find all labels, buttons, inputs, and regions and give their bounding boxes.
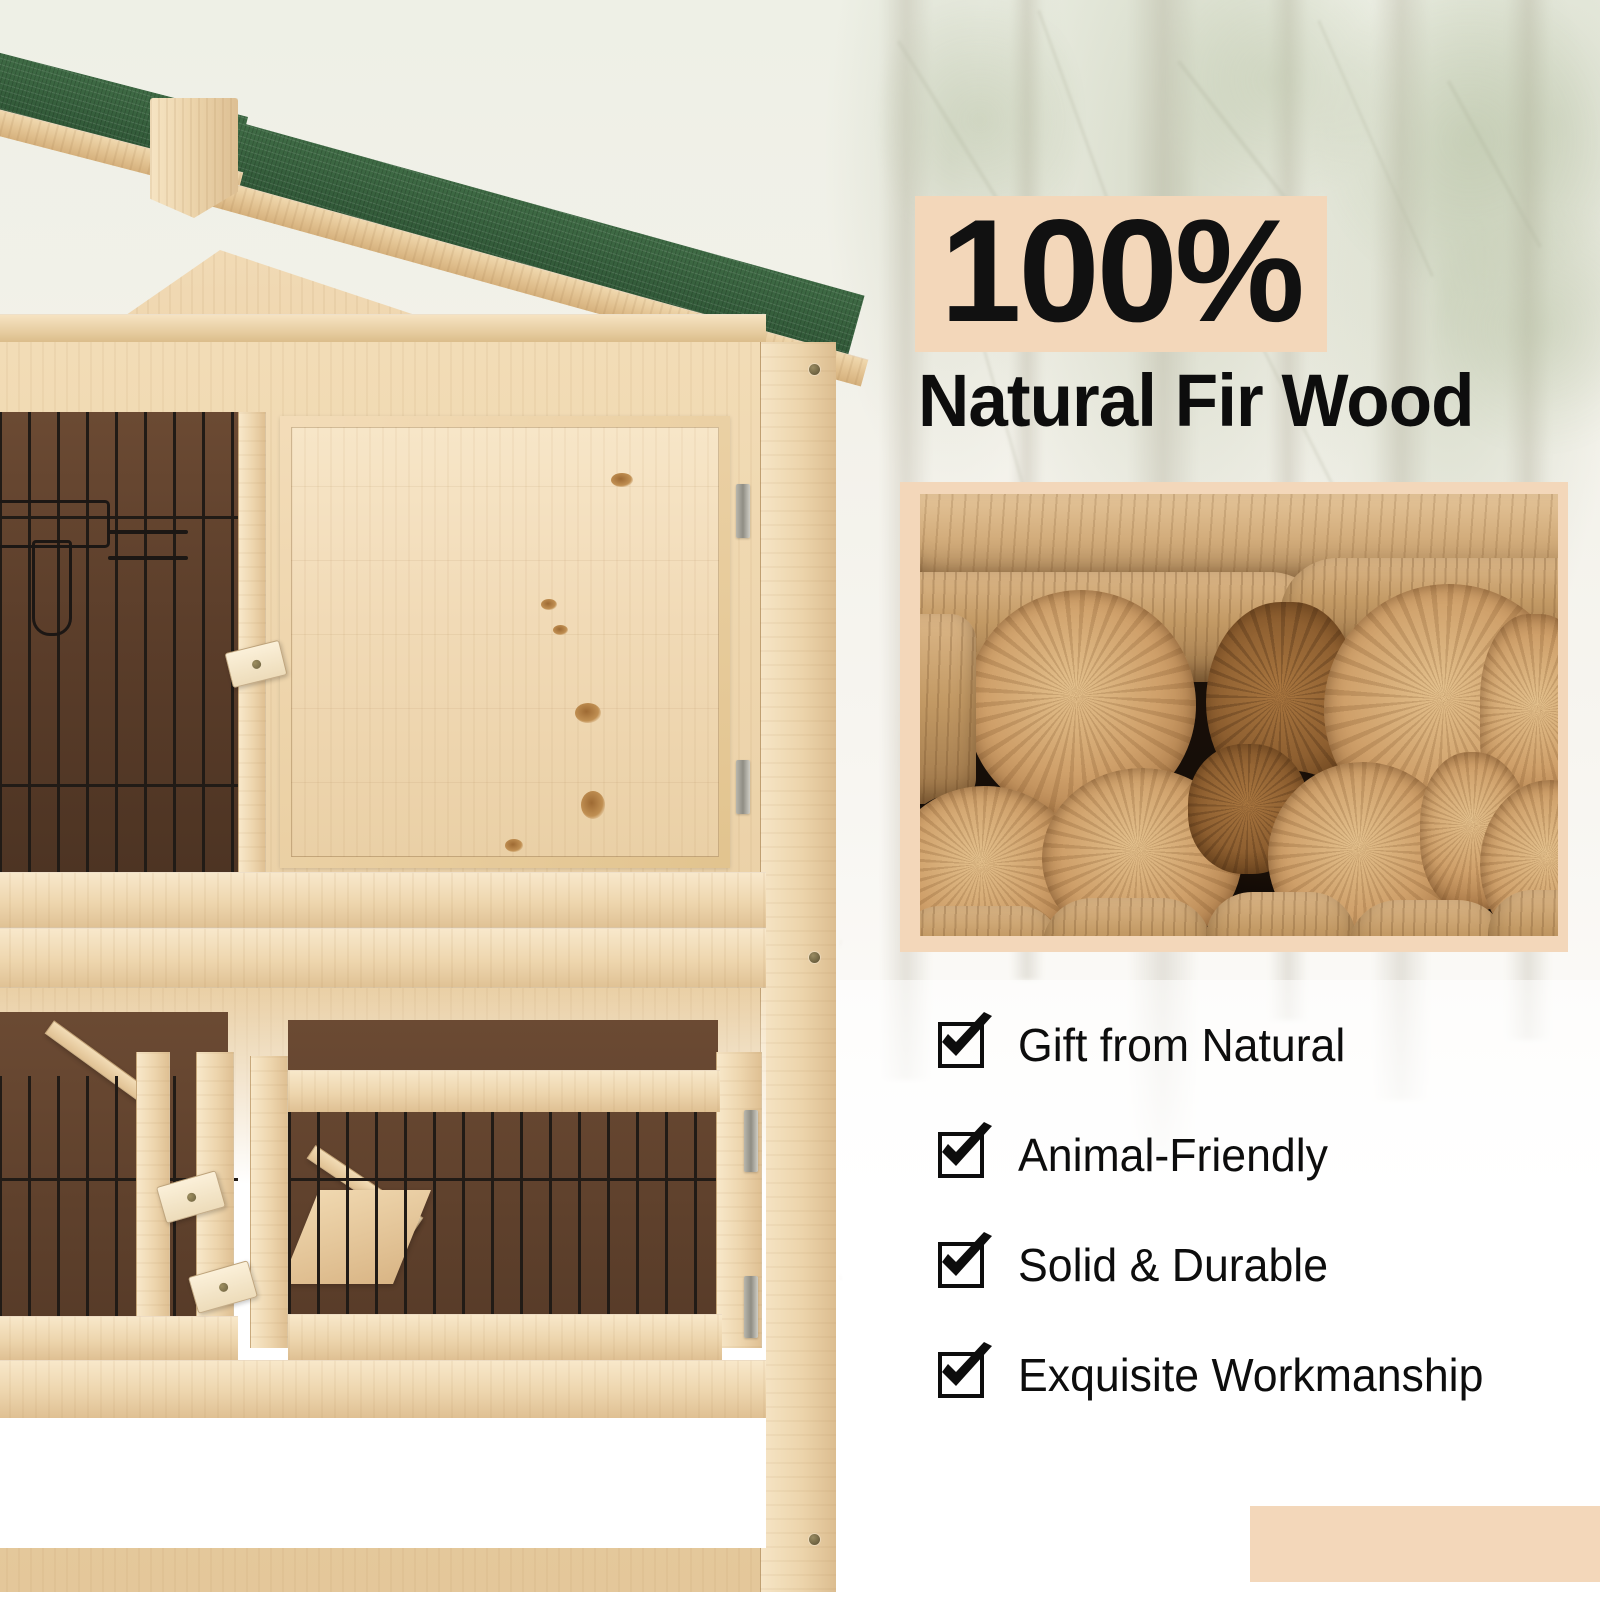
latch-arm [108, 556, 188, 560]
level-divider-rail-upper [0, 872, 766, 928]
bottom-accent-bar [1250, 1506, 1600, 1582]
checklist-item-label: Animal-Friendly [1018, 1130, 1328, 1180]
checklist-item: Solid & Durable [938, 1210, 1578, 1320]
upper-solid-wood-door[interactable] [280, 416, 730, 868]
fir-logs-photo [920, 494, 1558, 936]
lower-wire-mesh-right[interactable] [288, 1076, 720, 1332]
lower-stile-c [250, 1056, 288, 1348]
checklist-item: Animal-Friendly [938, 1100, 1578, 1210]
wood-knot [581, 791, 605, 819]
screw-icon [809, 952, 820, 963]
checklist-item: Gift from Natural [938, 990, 1578, 1100]
gable-trim [0, 314, 766, 344]
door-hinge-icon [736, 484, 750, 538]
promo-image-canvas: 100% Natural Fir Wood [0, 0, 1600, 1600]
headline-text: Natural Fir Wood [918, 360, 1561, 442]
latch-loop [32, 540, 72, 636]
upper-wire-mesh-panel [0, 412, 238, 872]
level-divider-rail-lower [0, 928, 766, 988]
base-rail [0, 1360, 766, 1418]
checklist-item-label: Solid & Durable [1018, 1240, 1328, 1290]
door-hinge-icon [744, 1110, 758, 1172]
wood-knot [611, 473, 633, 487]
lower-bottom-rail-left [0, 1316, 238, 1360]
right-corner-post [760, 342, 836, 1592]
fir-logs-photo-frame [900, 482, 1568, 952]
checkbox-checked-icon [938, 1242, 984, 1288]
screw-icon [809, 1534, 820, 1545]
wood-knot [575, 703, 601, 723]
checkbox-checked-icon [938, 1132, 984, 1178]
screw-icon [809, 364, 820, 375]
rabbit-hutch-product-photo [0, 60, 866, 1600]
checklist-item: Exquisite Workmanship [938, 1320, 1578, 1430]
door-hinge-icon [744, 1276, 758, 1338]
lower-top-rail [288, 1070, 720, 1112]
upper-center-stile [238, 412, 266, 872]
wood-knot [553, 625, 568, 635]
checkbox-checked-icon [938, 1352, 984, 1398]
checklist-item-label: Exquisite Workmanship [1018, 1350, 1483, 1400]
latch-arm [108, 530, 188, 534]
percent-badge: 100% [915, 196, 1327, 352]
wood-knot [541, 599, 557, 610]
lower-bottom-rail-right [288, 1314, 722, 1360]
checklist-item-label: Gift from Natural [1018, 1020, 1345, 1070]
percent-badge-text: 100% [915, 196, 1327, 346]
wood-knot [505, 839, 523, 852]
feature-checklist: Gift from Natural Animal-Friendly Solid … [938, 990, 1578, 1430]
door-hinge-icon [736, 760, 750, 814]
checkbox-checked-icon [938, 1022, 984, 1068]
